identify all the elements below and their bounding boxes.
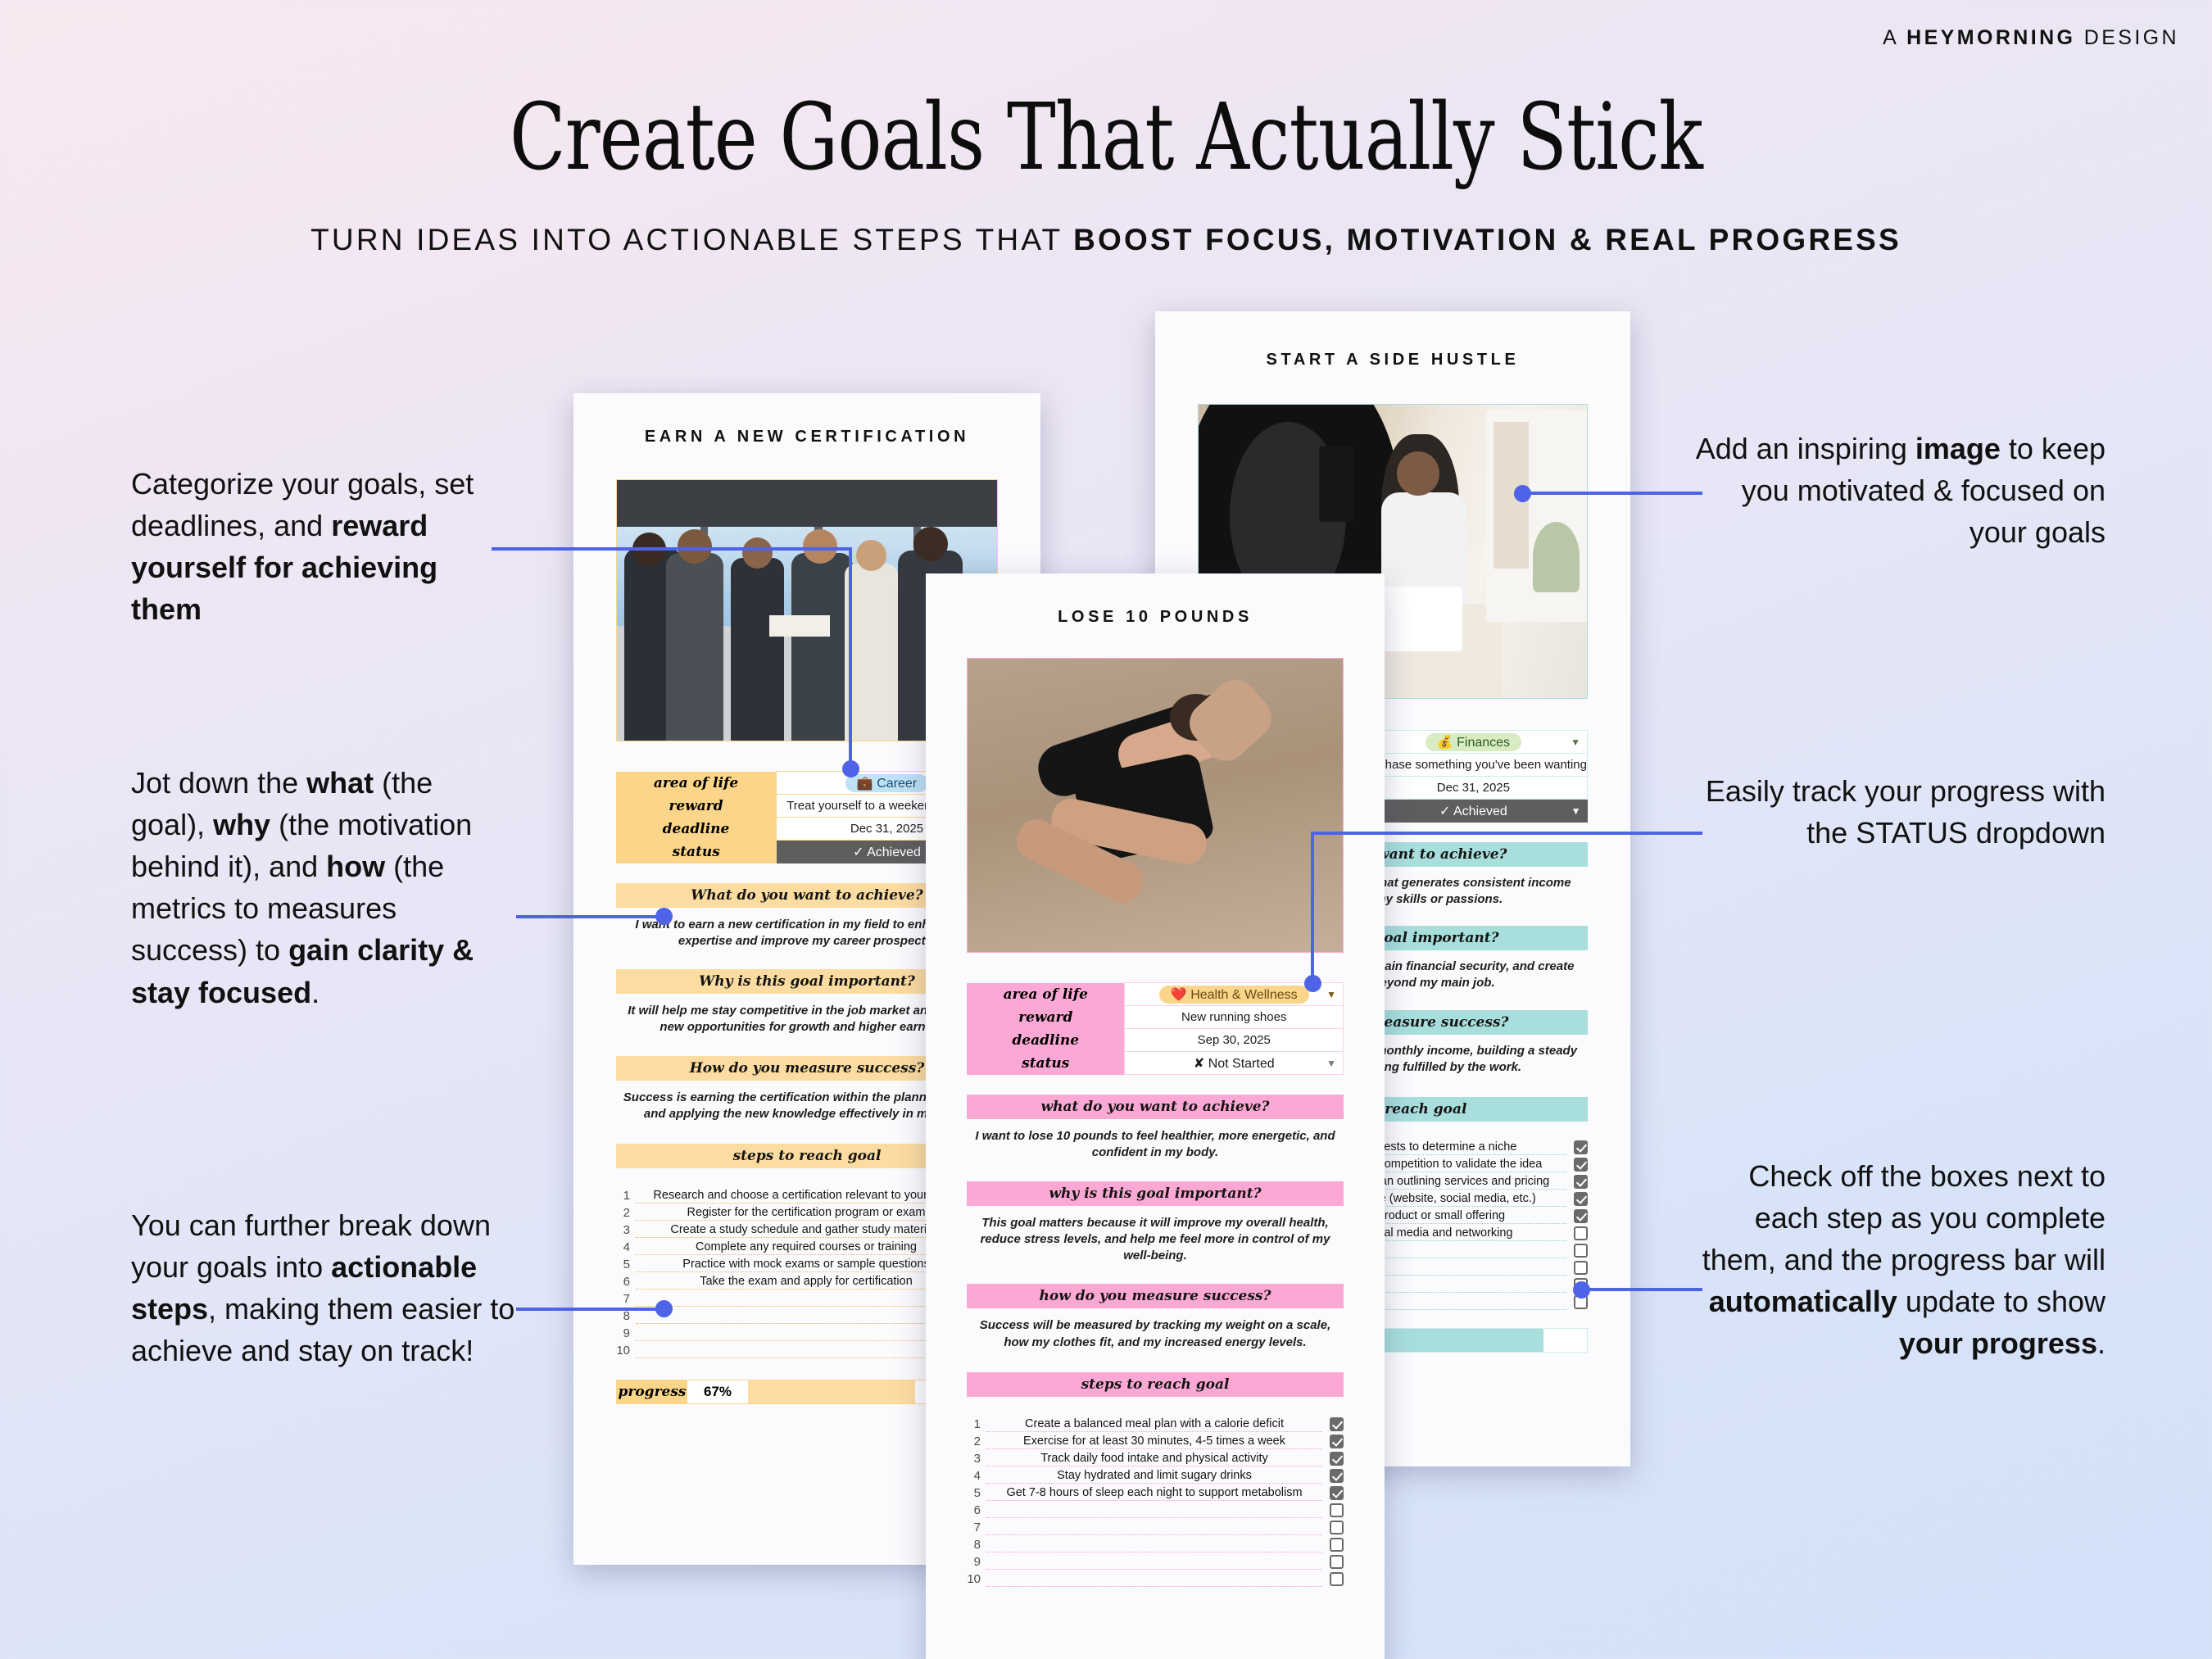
step-checkbox[interactable] [1330, 1435, 1344, 1448]
area-pill-finances: 💰 Finances [1426, 733, 1521, 751]
step-checkbox[interactable] [1330, 1469, 1344, 1483]
progress-fill [748, 1380, 915, 1403]
step-checkbox[interactable] [1574, 1140, 1588, 1154]
annotation-status-dropdown: Easily track your progress with the STAT… [1688, 770, 2105, 854]
annotation-run: Check off the boxes next to each step as… [1702, 1159, 2105, 1276]
step-number: 6 [967, 1503, 986, 1518]
status-value-text: ✓ Achieved [1439, 805, 1507, 818]
step-checkbox[interactable] [1330, 1521, 1344, 1534]
progress-label: progress [617, 1380, 687, 1403]
annotation-run: Add an inspiring [1696, 432, 1915, 465]
progress-percent: 67% [687, 1380, 748, 1403]
step-text[interactable] [986, 1517, 1322, 1518]
annotation-what-why-how: Jot down the what (the goal), why (the m… [131, 762, 508, 1013]
area-pill-health: ❤️ Health & Wellness [1159, 986, 1309, 1004]
field-label-area: area of life [967, 983, 1125, 1006]
step-number: 3 [616, 1223, 636, 1238]
step-number: 10 [967, 1572, 986, 1587]
brand-prefix: A [1883, 26, 1906, 49]
step-row[interactable]: 1Create a balanced meal plan with a calo… [967, 1415, 1344, 1432]
subtitle-bold: BOOST FOCUS, MOTIVATION & REAL PROGRESS [1073, 223, 1902, 256]
annotation-run: Jot down the [131, 766, 306, 800]
money-bag-icon: 💰 [1437, 736, 1453, 750]
field-value-deadline[interactable]: Sep 30, 2025 [1125, 1029, 1344, 1052]
step-row[interactable]: 5Get 7-8 hours of sleep each night to su… [967, 1484, 1344, 1501]
step-row[interactable]: 2Exercise for at least 30 minutes, 4-5 t… [967, 1432, 1344, 1449]
annotation-actionable-steps: You can further break down your goals in… [131, 1204, 516, 1371]
annotation-run: why [213, 808, 270, 841]
step-row[interactable]: 4Stay hydrated and limit sugary drinks [967, 1466, 1344, 1484]
goal-card-lose-weight[interactable]: LOSE 10 POUNDS area of life ❤️ Health & … [926, 573, 1385, 1659]
brand-suffix: DESIGN [2075, 26, 2179, 49]
step-number: 4 [967, 1469, 986, 1484]
step-checkbox[interactable] [1574, 1261, 1588, 1275]
step-row[interactable]: 7 [967, 1518, 1344, 1535]
field-label-deadline: deadline [967, 1029, 1125, 1052]
annotation-checkbox-progress: Check off the boxes next to each step as… [1688, 1155, 2105, 1365]
step-text[interactable] [986, 1586, 1322, 1587]
step-number: 2 [967, 1435, 986, 1449]
field-label-deadline: deadline [616, 818, 777, 841]
step-checkbox[interactable] [1574, 1244, 1588, 1258]
step-row[interactable]: 6 [967, 1501, 1344, 1518]
section-body-achieve[interactable]: I want to lose 10 pounds to feel healthi… [967, 1128, 1344, 1162]
step-row[interactable]: 3Track daily food intake and physical ac… [967, 1449, 1344, 1466]
step-number: 10 [616, 1344, 636, 1358]
chevron-down-icon[interactable]: ▼ [1571, 737, 1580, 748]
page-title: Create Goals That Actually Stick [221, 90, 1991, 187]
annotation-run: . [2097, 1326, 2105, 1360]
section-head-why: why is this goal important? [967, 1181, 1344, 1206]
step-number: 1 [967, 1417, 986, 1432]
annotation-categorize-goals: Categorize your goals, set deadlines, an… [131, 463, 500, 630]
field-label-area: area of life [616, 772, 777, 795]
section-head-achieve: what do you want to achieve? [967, 1095, 1344, 1119]
area-pill-career: 💼 Career [845, 774, 928, 792]
step-text[interactable] [986, 1552, 1322, 1552]
step-number: 5 [616, 1258, 636, 1272]
step-number: 9 [616, 1326, 636, 1341]
step-text[interactable]: Track daily food intake and physical act… [986, 1451, 1322, 1466]
field-label-status: status [967, 1052, 1125, 1075]
annotation-run: your progress [1899, 1326, 2097, 1360]
step-number: 7 [616, 1292, 636, 1307]
section-head-steps: steps to reach goal [967, 1372, 1344, 1397]
field-row-status: status ✘ Not Started ▼ [967, 1052, 1344, 1075]
status-dropdown-side-hustle[interactable]: ✓ Achieved ▼ [1359, 800, 1587, 823]
step-text[interactable]: Get 7-8 hours of sleep each night to sup… [986, 1485, 1322, 1501]
field-value-reward[interactable]: New running shoes [1125, 1006, 1344, 1029]
brand-credit: A HEYMORNING DESIGN [1883, 26, 2179, 50]
step-checkbox[interactable] [1574, 1295, 1588, 1309]
chevron-down-icon[interactable]: ▼ [1326, 989, 1336, 1000]
step-checkbox[interactable] [1574, 1209, 1588, 1223]
status-dropdown-lose-weight[interactable]: ✘ Not Started ▼ [1125, 1052, 1344, 1075]
step-checkbox[interactable] [1574, 1278, 1588, 1292]
card-title-lose-weight: LOSE 10 POUNDS [926, 608, 1385, 627]
field-label-status: status [616, 841, 777, 863]
area-value-text: Career [877, 777, 917, 791]
step-checkbox[interactable] [1574, 1175, 1588, 1189]
section-body-why[interactable]: This goal matters because it will improv… [967, 1215, 1344, 1265]
step-number: 7 [967, 1521, 986, 1535]
annotation-run: what [306, 766, 374, 800]
annotation-run: image [1915, 432, 2001, 465]
field-label-reward: reward [616, 795, 777, 818]
field-row-area: area of life ❤️ Health & Wellness ▼ [967, 983, 1344, 1006]
step-checkbox[interactable] [1330, 1417, 1344, 1431]
step-text[interactable] [986, 1569, 1322, 1570]
step-number: 9 [967, 1555, 986, 1570]
field-value-deadline[interactable]: Dec 31, 2025 [1359, 777, 1587, 800]
field-value-area[interactable]: ❤️ Health & Wellness ▼ [1125, 983, 1344, 1006]
card-title-certification: EARN A NEW CERTIFICATION [573, 428, 1040, 446]
step-checkbox[interactable] [1574, 1226, 1588, 1240]
step-number: 8 [967, 1538, 986, 1552]
annotation-run: update to show [1897, 1285, 2105, 1318]
area-value-text: Finances [1457, 736, 1510, 750]
field-value-reward[interactable]: Purchase something you've been wanting [1359, 754, 1587, 777]
goal-photo-lose-weight [967, 658, 1344, 953]
step-checkbox[interactable] [1330, 1486, 1344, 1500]
step-number: 2 [616, 1206, 636, 1221]
field-value-area[interactable]: 💰 Finances ▼ [1359, 731, 1587, 754]
annotation-inspiring-image: Add an inspiring image to keep you motiv… [1688, 428, 2105, 553]
subtitle-normal: TURN IDEAS INTO ACTIONABLE STEPS THAT [310, 223, 1073, 256]
brand-name: HEYMORNING [1906, 26, 2075, 49]
step-checkbox[interactable] [1330, 1572, 1344, 1586]
fields-lose-weight: area of life ❤️ Health & Wellness ▼ rewa… [967, 982, 1344, 1075]
area-value-text: Health & Wellness [1190, 988, 1297, 1002]
page-subtitle: TURN IDEAS INTO ACTIONABLE STEPS THAT BO… [0, 223, 2212, 257]
step-checkbox[interactable] [1330, 1555, 1344, 1569]
field-row-deadline: deadline Sep 30, 2025 [967, 1029, 1344, 1052]
step-text[interactable] [986, 1534, 1322, 1535]
annotation-run: how [326, 850, 385, 883]
step-number: 1 [616, 1189, 636, 1203]
chevron-down-icon[interactable]: ▼ [1326, 1058, 1336, 1069]
step-checkbox[interactable] [1574, 1192, 1588, 1206]
step-checkbox[interactable] [1330, 1452, 1344, 1466]
step-checkbox[interactable] [1330, 1538, 1344, 1552]
chevron-down-icon[interactable]: ▼ [1571, 805, 1581, 817]
annotation-run: . [311, 976, 320, 1009]
briefcase-icon: 💼 [857, 777, 873, 791]
step-number: 4 [616, 1240, 636, 1255]
step-text[interactable]: Create a balanced meal plan with a calor… [986, 1416, 1322, 1432]
field-label-reward: reward [967, 1006, 1125, 1029]
heart-icon: ❤️ [1171, 988, 1187, 1002]
step-number: 5 [967, 1486, 986, 1501]
status-value-text: ✘ Not Started [1194, 1057, 1275, 1071]
annotation-run: Easily track your progress with the STAT… [1706, 774, 2105, 850]
step-checkbox[interactable] [1574, 1158, 1588, 1172]
section-body-measure[interactable]: Success will be measured by tracking my … [967, 1317, 1344, 1351]
step-row[interactable]: 8 [967, 1535, 1344, 1552]
annotation-run: automatically [1709, 1285, 1897, 1318]
card-title-side-hustle: START A SIDE HUSTLE [1155, 351, 1630, 369]
step-checkbox[interactable] [1330, 1503, 1344, 1517]
field-row-reward: reward New running shoes [967, 1006, 1344, 1029]
section-head-measure: how do you measure success? [967, 1284, 1344, 1308]
step-row[interactable]: 9 [967, 1552, 1344, 1570]
steps-list-lose-weight[interactable]: 1Create a balanced meal plan with a calo… [967, 1415, 1344, 1587]
step-text[interactable]: Stay hydrated and limit sugary drinks [986, 1468, 1322, 1484]
status-value-text: ✓ Achieved [853, 845, 921, 859]
step-number: 8 [616, 1309, 636, 1324]
step-number: 3 [967, 1452, 986, 1466]
step-number: 6 [616, 1275, 636, 1290]
step-text[interactable]: Exercise for at least 30 minutes, 4-5 ti… [986, 1434, 1322, 1449]
step-row[interactable]: 10 [967, 1570, 1344, 1587]
